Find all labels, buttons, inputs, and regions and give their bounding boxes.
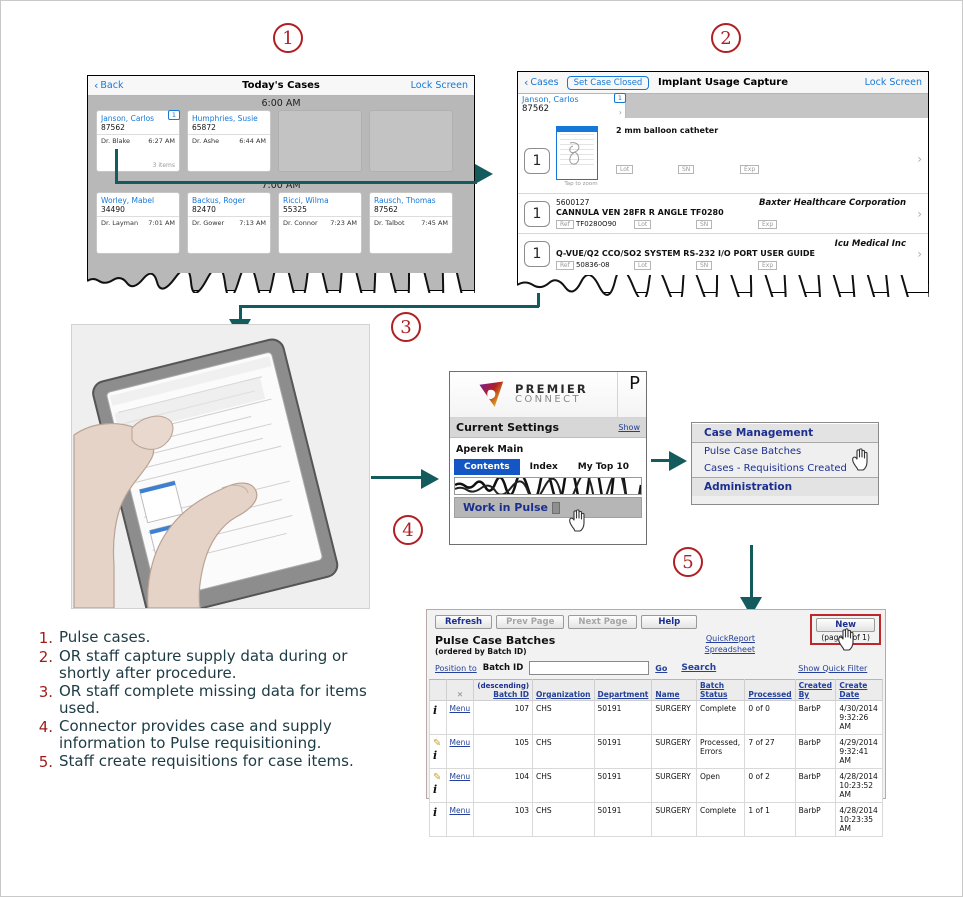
case-doctor: Dr. Gower xyxy=(192,219,224,227)
table-row[interactable]: ✎ i Menu 104 CHS 50191 SURGERY Open 0 of… xyxy=(430,769,883,803)
cell-batch-id: 104 xyxy=(474,769,533,803)
item-title: CANNULA VEN 28FR R ANGLE TF0280 xyxy=(556,208,922,217)
row-menu-link[interactable]: Menu xyxy=(450,806,471,815)
col-department-label[interactable]: Department xyxy=(598,690,649,699)
arrow-head-to-premier xyxy=(421,469,439,489)
chevron-right-icon[interactable]: › xyxy=(917,152,922,166)
tab-my-top-10[interactable]: My Top 10 xyxy=(568,459,639,475)
position-to-row: Position to Batch ID Go Search Show Quic… xyxy=(427,659,885,679)
legend-number-4: 4. xyxy=(33,718,53,752)
work-in-pulse-button[interactable]: Work in Pulse xyxy=(454,497,642,518)
new-button-highlight: New (page 1 of 1) xyxy=(810,614,881,645)
ref-field-tag: Ref xyxy=(556,220,574,229)
set-case-closed-button[interactable]: Set Case Closed xyxy=(567,76,650,90)
case-mrn: 82470 xyxy=(188,205,270,217)
case-badge: 1 xyxy=(168,110,180,120)
back-button-label: Back xyxy=(100,80,123,91)
lot-field-tag[interactable]: Lot xyxy=(634,220,651,229)
cursor-hand-icon xyxy=(850,447,872,471)
current-settings-bar: Current Settings Show xyxy=(450,418,646,438)
torn-edge-panel1 xyxy=(87,273,475,293)
chevron-left-icon: ‹ xyxy=(94,80,98,91)
navbar-todays-cases: ‹ Back Today's Cases Lock Screen xyxy=(88,76,474,96)
case-patient-name: Worley, Mabel xyxy=(97,193,179,205)
diagram-page: 1 2 3 4 5 ‹ Back Today's Cases Lock Scre… xyxy=(0,0,963,897)
cursor-hand-icon xyxy=(567,508,589,532)
col-batch-status[interactable]: Batch Status xyxy=(696,680,744,701)
content-scroll-region[interactable] xyxy=(454,477,642,495)
col-processed-label[interactable]: Processed xyxy=(748,690,791,699)
cell-processed: 0 of 2 xyxy=(745,769,795,803)
cell-name: SURGERY xyxy=(652,735,697,769)
col-batch-status-label[interactable]: Batch Status xyxy=(700,681,727,699)
spreadsheet-link[interactable]: Spreadsheet xyxy=(705,645,755,656)
item-title: Q-VUE/Q2 CCO/SO2 SYSTEM RS-232 I/O PORT … xyxy=(556,249,922,258)
case-doctor: Dr. Layman xyxy=(101,219,138,227)
legend-item-5: 5. Staff create requisitions for case it… xyxy=(33,753,373,771)
col-created-by[interactable]: Created By xyxy=(795,680,836,701)
position-to-link[interactable]: Position to xyxy=(435,664,477,673)
col-name[interactable]: Name xyxy=(652,680,697,701)
col-batch-id-label[interactable]: Batch ID xyxy=(493,690,529,699)
case-card[interactable]: Worley, Mabel 34490 Dr. Layman7:01 AM xyxy=(96,192,180,254)
item-quantity-value: 1 xyxy=(533,206,542,222)
cell-department: 50191 xyxy=(594,769,652,803)
row-action-icons[interactable]: ✎ i xyxy=(430,769,447,803)
connector-line-1-h xyxy=(115,181,477,184)
step-marker-1: 1 xyxy=(273,23,303,53)
patient-chip[interactable]: 1 Janson, Carlos 87562 › xyxy=(518,94,626,118)
row-action-icons[interactable]: ✎ i xyxy=(430,735,447,769)
navbar-implant-usage: ‹ Cases Set Case Closed Implant Usage Ca… xyxy=(518,72,928,94)
legend-item-1: 1. Pulse cases. xyxy=(33,629,373,647)
menu-header-administration[interactable]: Administration xyxy=(692,477,878,496)
case-mrn: 65872 xyxy=(188,123,270,135)
col-name-label[interactable]: Name xyxy=(655,690,679,699)
col-actions xyxy=(430,680,447,701)
step-marker-3-label: 3 xyxy=(400,317,411,338)
col-organization-label[interactable]: Organization xyxy=(536,690,591,699)
current-settings-title: Current Settings xyxy=(456,421,559,434)
case-card-empty[interactable] xyxy=(278,110,362,172)
premier-brand-line2: CONNECT xyxy=(515,395,588,405)
cell-organization: CHS xyxy=(533,735,595,769)
legend-number-2: 2. xyxy=(33,648,53,682)
tablet-photo-illustration xyxy=(72,325,369,608)
edit-pencil-icon[interactable]: ✎ xyxy=(433,738,441,749)
exp-field-tag[interactable]: Exp xyxy=(758,220,777,229)
table-row[interactable]: i Menu 103 CHS 50191 SURGERY Complete 1 … xyxy=(430,803,883,837)
logo-divider xyxy=(617,372,618,417)
table-row[interactable]: i Menu 107 CHS 50191 SURGERY Complete 0 … xyxy=(430,701,883,735)
case-doctor: Dr. Ashe xyxy=(192,137,219,145)
cell-batch-status: Complete xyxy=(696,701,744,735)
cell-create-date-date: 4/28/2014 xyxy=(839,772,877,781)
info-icon[interactable]: i xyxy=(433,783,437,796)
lock-screen-button[interactable]: Lock Screen xyxy=(865,77,922,88)
tab-contents[interactable]: Contents xyxy=(454,459,520,475)
case-row-700: Worley, Mabel 34490 Dr. Layman7:01 AM Ba… xyxy=(88,192,474,254)
cell-name: SURGERY xyxy=(652,803,697,837)
legend-text-1: Pulse cases. xyxy=(59,629,150,647)
item-code: 5600127 xyxy=(556,198,589,207)
case-management-menu: Case Management Pulse Case Batches Cases… xyxy=(691,422,879,505)
torn-edge-content xyxy=(455,478,641,494)
cell-create-date-time: 10:23:35 AM xyxy=(839,815,873,833)
row-menu-link[interactable]: Menu xyxy=(450,772,471,781)
ref-field-tag: Ref xyxy=(556,261,574,270)
implant-item-row[interactable]: 1 5600127 Baxter Healthcare Corporation … xyxy=(518,194,928,234)
legend-text-2: OR staff capture supply data during or s… xyxy=(59,648,373,682)
cell-create-date-time: 9:32:26 AM xyxy=(839,713,868,731)
cell-created-by: BarbP xyxy=(795,769,836,803)
case-patient-name: Janson, Carlos xyxy=(97,111,179,123)
legend-text-4: Connector provides case and supply infor… xyxy=(59,718,373,752)
case-patient-name: Humphries, Susie xyxy=(188,111,270,123)
row-menu-cell[interactable]: Menu xyxy=(446,803,474,837)
cell-create-date-time: 9:32:41 AM xyxy=(839,747,868,765)
premier-connect-panel: PREMIER CONNECT P Current Settings Show … xyxy=(449,371,647,545)
connector-line-1-v xyxy=(115,149,118,183)
case-doctor: Dr. Blake xyxy=(101,137,130,145)
cell-processed: 1 of 1 xyxy=(745,803,795,837)
case-doctor: Dr. Connor xyxy=(283,219,318,227)
premier-logo-bar: PREMIER CONNECT P xyxy=(450,372,646,418)
tab-index[interactable]: Index xyxy=(520,459,568,475)
lock-screen-button[interactable]: Lock Screen xyxy=(411,80,468,91)
chevron-right-icon[interactable]: › xyxy=(917,207,922,221)
cases-back-label: Cases xyxy=(530,77,558,88)
col-clear-icon[interactable]: ✕ xyxy=(446,680,474,701)
lot-field-tag[interactable]: Lot xyxy=(616,165,633,174)
cell-create-date-time: 10:23:52 AM xyxy=(839,781,873,799)
case-time: 6:27 AM xyxy=(148,137,175,145)
connector-line-2-vtop xyxy=(537,293,540,307)
exp-field-tag[interactable]: Exp xyxy=(758,261,777,270)
col-organization[interactable]: Organization xyxy=(533,680,595,701)
case-mrn: 34490 xyxy=(97,205,179,217)
chevron-right-icon[interactable]: › xyxy=(917,247,922,261)
cell-department: 50191 xyxy=(594,803,652,837)
sn-field-tag[interactable]: SN xyxy=(696,261,712,270)
patient-mrn: 87562 xyxy=(522,104,621,114)
case-item-count: 3 items xyxy=(153,162,175,169)
col-department[interactable]: Department xyxy=(594,680,652,701)
case-mrn: 55325 xyxy=(279,205,361,217)
step-marker-1-label: 1 xyxy=(282,28,293,49)
row-action-icons[interactable]: i xyxy=(430,701,447,735)
cell-department: 50191 xyxy=(594,735,652,769)
cell-create-date: 4/28/2014 10:23:52 AM xyxy=(836,769,883,803)
row-action-icons[interactable]: i xyxy=(430,803,447,837)
go-link[interactable]: Go xyxy=(655,664,667,673)
col-create-date[interactable]: Create Date xyxy=(836,680,883,701)
cell-organization: CHS xyxy=(533,769,595,803)
legend-text-3: OR staff complete missing data for items… xyxy=(59,683,373,717)
legend-item-2: 2. OR staff capture supply data during o… xyxy=(33,648,373,682)
table-subtitle: (ordered by Batch ID) xyxy=(427,647,563,659)
implant-item-row[interactable]: 1 Tap to zoom 2 mm balloo xyxy=(518,118,928,194)
connector-line-2-h xyxy=(239,305,539,308)
case-doctor: Dr. Talbot xyxy=(374,219,405,227)
implant-item-row[interactable]: 1 Icu Medical Inc Q-VUE/Q2 CCO/SO2 SYSTE… xyxy=(518,234,928,274)
legend-item-4: 4. Connector provides case and supply in… xyxy=(33,718,373,752)
case-time: 7:23 AM xyxy=(330,219,357,227)
table-row[interactable]: ✎ i Menu 105 CHS 50191 SURGERY Processed… xyxy=(430,735,883,769)
p-letter-label: P xyxy=(629,373,640,394)
legend-text-5: Staff create requisitions for case items… xyxy=(59,753,354,771)
cell-batch-id: 105 xyxy=(474,735,533,769)
next-page-button[interactable]: Next Page xyxy=(568,615,637,629)
balloon-catheter-sketch-icon xyxy=(565,139,589,169)
sn-field-tag[interactable]: SN xyxy=(678,165,694,174)
organization-label: Aperek Main xyxy=(450,438,646,459)
item-ref-value: TF0280O90 xyxy=(576,220,617,228)
cell-batch-status: Complete xyxy=(696,803,744,837)
chevron-right-icon: › xyxy=(619,108,622,117)
item-manufacturer: Icu Medical Inc xyxy=(835,239,906,249)
case-card[interactable]: Ricci, Wilma 55325 Dr. Connor7:23 AM xyxy=(278,192,362,254)
show-quick-filter-link[interactable]: Show Quick Filter xyxy=(798,664,867,673)
patient-name: Janson, Carlos xyxy=(522,95,621,104)
case-time: 7:13 AM xyxy=(239,219,266,227)
quick-report-link[interactable]: QuickReport xyxy=(705,634,755,645)
step-marker-4: 4 xyxy=(393,515,423,545)
premier-logo-icon xyxy=(478,381,508,409)
cell-create-date-date: 4/29/2014 xyxy=(839,738,877,747)
patient-strip: 1 Janson, Carlos 87562 › xyxy=(518,94,928,118)
exp-field-tag[interactable]: Exp xyxy=(740,165,759,174)
table-header-row: ✕ (descending) Batch ID Organization Dep… xyxy=(430,680,883,701)
step-marker-3: 3 xyxy=(391,312,421,342)
cell-name: SURGERY xyxy=(652,701,697,735)
batches-table: ✕ (descending) Batch ID Organization Dep… xyxy=(429,679,883,837)
thumbnail-caption: Tap to zoom xyxy=(556,181,606,187)
torn-edge-panel2 xyxy=(517,275,929,297)
time-group-header: 6:00 AM xyxy=(88,96,474,110)
case-mrn: 87562 xyxy=(370,205,452,217)
prev-page-button[interactable]: Prev Page xyxy=(496,615,564,629)
legend-number-3: 3. xyxy=(33,683,53,717)
step-marker-5-label: 5 xyxy=(682,552,693,573)
case-card[interactable]: Humphries, Susie 65872 Dr. Ashe6:44 AM xyxy=(187,110,271,172)
patient-badge: 1 xyxy=(614,93,626,103)
back-button[interactable]: ‹ Back xyxy=(94,80,123,91)
premier-brand: PREMIER CONNECT xyxy=(478,381,588,409)
case-card[interactable]: Backus, Roger 82470 Dr. Gower7:13 AM xyxy=(187,192,271,254)
ios-screen-implant-usage: ‹ Cases Set Case Closed Implant Usage Ca… xyxy=(517,71,929,293)
item-quantity[interactable]: 1 xyxy=(524,201,550,227)
case-time: 7:01 AM xyxy=(148,219,175,227)
row-menu-link[interactable]: Menu xyxy=(450,738,471,747)
arrow-head-to-panel2 xyxy=(475,164,493,184)
cell-batch-status: Open xyxy=(696,769,744,803)
connector-line-3-h xyxy=(371,476,423,479)
info-icon[interactable]: i xyxy=(433,806,437,819)
work-in-pulse-label: Work in Pulse xyxy=(463,501,548,514)
info-icon[interactable]: i xyxy=(433,749,437,762)
case-card[interactable]: Rausch, Thomas 87562 Dr. Talbot7:45 AM xyxy=(369,192,453,254)
item-quantity[interactable]: 1 xyxy=(524,148,550,174)
cell-created-by: BarbP xyxy=(795,735,836,769)
cell-create-date: 4/30/2014 9:32:26 AM xyxy=(836,701,883,735)
cell-organization: CHS xyxy=(533,701,595,735)
case-patient-name: Backus, Roger xyxy=(188,193,270,205)
item-quantity-value: 1 xyxy=(533,246,542,262)
col-create-date-label[interactable]: Create Date xyxy=(839,681,867,699)
legend-number-5: 5. xyxy=(33,753,53,771)
premier-wordmark: PREMIER CONNECT xyxy=(515,384,588,406)
item-thumbnail[interactable] xyxy=(556,126,598,180)
item-thumbnail-wrap[interactable]: Tap to zoom xyxy=(556,126,606,187)
menu-header-case-management: Case Management xyxy=(692,423,878,443)
cell-department: 50191 xyxy=(594,701,652,735)
col-batch-id[interactable]: (descending) Batch ID xyxy=(474,680,533,701)
info-icon[interactable]: i xyxy=(433,704,437,717)
case-patient-name: Rausch, Thomas xyxy=(370,193,452,205)
connector-line-5-v xyxy=(750,545,753,602)
legend-item-3: 3. OR staff complete missing data for it… xyxy=(33,683,373,717)
cell-batch-id: 107 xyxy=(474,701,533,735)
item-quantity[interactable]: 1 xyxy=(524,241,550,267)
position-field-label: Batch ID xyxy=(483,663,524,673)
step-marker-2-label: 2 xyxy=(720,28,731,49)
row-menu-cell[interactable]: Menu xyxy=(446,769,474,803)
legend-number-1: 1. xyxy=(33,629,53,647)
step-marker-4-label: 4 xyxy=(402,520,413,541)
pulse-case-batches-panel: Refresh Prev Page Next Page Help Pulse C… xyxy=(426,609,886,799)
col-processed[interactable]: Processed xyxy=(745,680,795,701)
cell-created-by: BarbP xyxy=(795,803,836,837)
item-quantity-value: 1 xyxy=(533,153,542,169)
cell-processed: 7 of 27 xyxy=(745,735,795,769)
row-menu-cell[interactable]: Menu xyxy=(446,735,474,769)
case-patient-name: Ricci, Wilma xyxy=(279,193,361,205)
cell-create-date-date: 4/30/2014 xyxy=(839,704,877,713)
book-icon xyxy=(552,502,560,514)
row-menu-link[interactable]: Menu xyxy=(450,704,471,713)
cell-batch-id: 103 xyxy=(474,803,533,837)
legend-list: 1. Pulse cases. 2. OR staff capture supp… xyxy=(33,629,373,772)
item-title: 2 mm balloon catheter xyxy=(616,126,922,135)
case-time: 7:45 AM xyxy=(421,219,448,227)
case-row-600: 1 Janson, Carlos 87562 Dr. Blake6:27 AM … xyxy=(88,110,474,172)
cursor-hand-icon xyxy=(836,627,858,651)
case-mrn: 87562 xyxy=(97,123,179,135)
case-time: 6:44 AM xyxy=(239,137,266,145)
premier-tabs: Contents Index My Top 10 xyxy=(450,459,646,475)
col-created-by-label[interactable]: Created By xyxy=(799,681,832,699)
cell-create-date-date: 4/28/2014 xyxy=(839,806,877,815)
sort-direction-note: (descending) xyxy=(477,682,529,690)
step-marker-2: 2 xyxy=(711,23,741,53)
cell-created-by: BarbP xyxy=(795,701,836,735)
arrow-head-to-menu xyxy=(669,451,687,471)
row-menu-cell[interactable]: Menu xyxy=(446,701,474,735)
refresh-button[interactable]: Refresh xyxy=(435,615,492,629)
cell-organization: CHS xyxy=(533,803,595,837)
show-settings-link[interactable]: Show xyxy=(618,423,640,432)
cell-batch-status: Processed, Errors xyxy=(696,735,744,769)
tablet-photo xyxy=(71,324,370,609)
case-card-empty[interactable] xyxy=(369,110,453,172)
cell-create-date: 4/28/2014 10:23:35 AM xyxy=(836,803,883,837)
cell-processed: 0 of 0 xyxy=(745,701,795,735)
item-ref-value: 50836-08 xyxy=(576,261,610,269)
position-to-input[interactable] xyxy=(529,661,649,675)
cases-back-button[interactable]: ‹ Cases xyxy=(524,77,559,88)
sn-field-tag[interactable]: SN xyxy=(696,220,712,229)
step-marker-5: 5 xyxy=(673,547,703,577)
edit-pencil-icon[interactable]: ✎ xyxy=(433,772,441,783)
lot-field-tag[interactable]: Lot xyxy=(634,261,651,270)
item-manufacturer: Baxter Healthcare Corporation xyxy=(759,198,906,208)
table-title: Pulse Case Batches xyxy=(427,632,563,647)
case-card[interactable]: 1 Janson, Carlos 87562 Dr. Blake6:27 AM … xyxy=(96,110,180,172)
search-link[interactable]: Search xyxy=(681,663,716,673)
cell-create-date: 4/29/2014 9:32:41 AM xyxy=(836,735,883,769)
cell-name: SURGERY xyxy=(652,769,697,803)
help-button[interactable]: Help xyxy=(641,615,697,629)
chevron-left-icon: ‹ xyxy=(524,77,528,88)
